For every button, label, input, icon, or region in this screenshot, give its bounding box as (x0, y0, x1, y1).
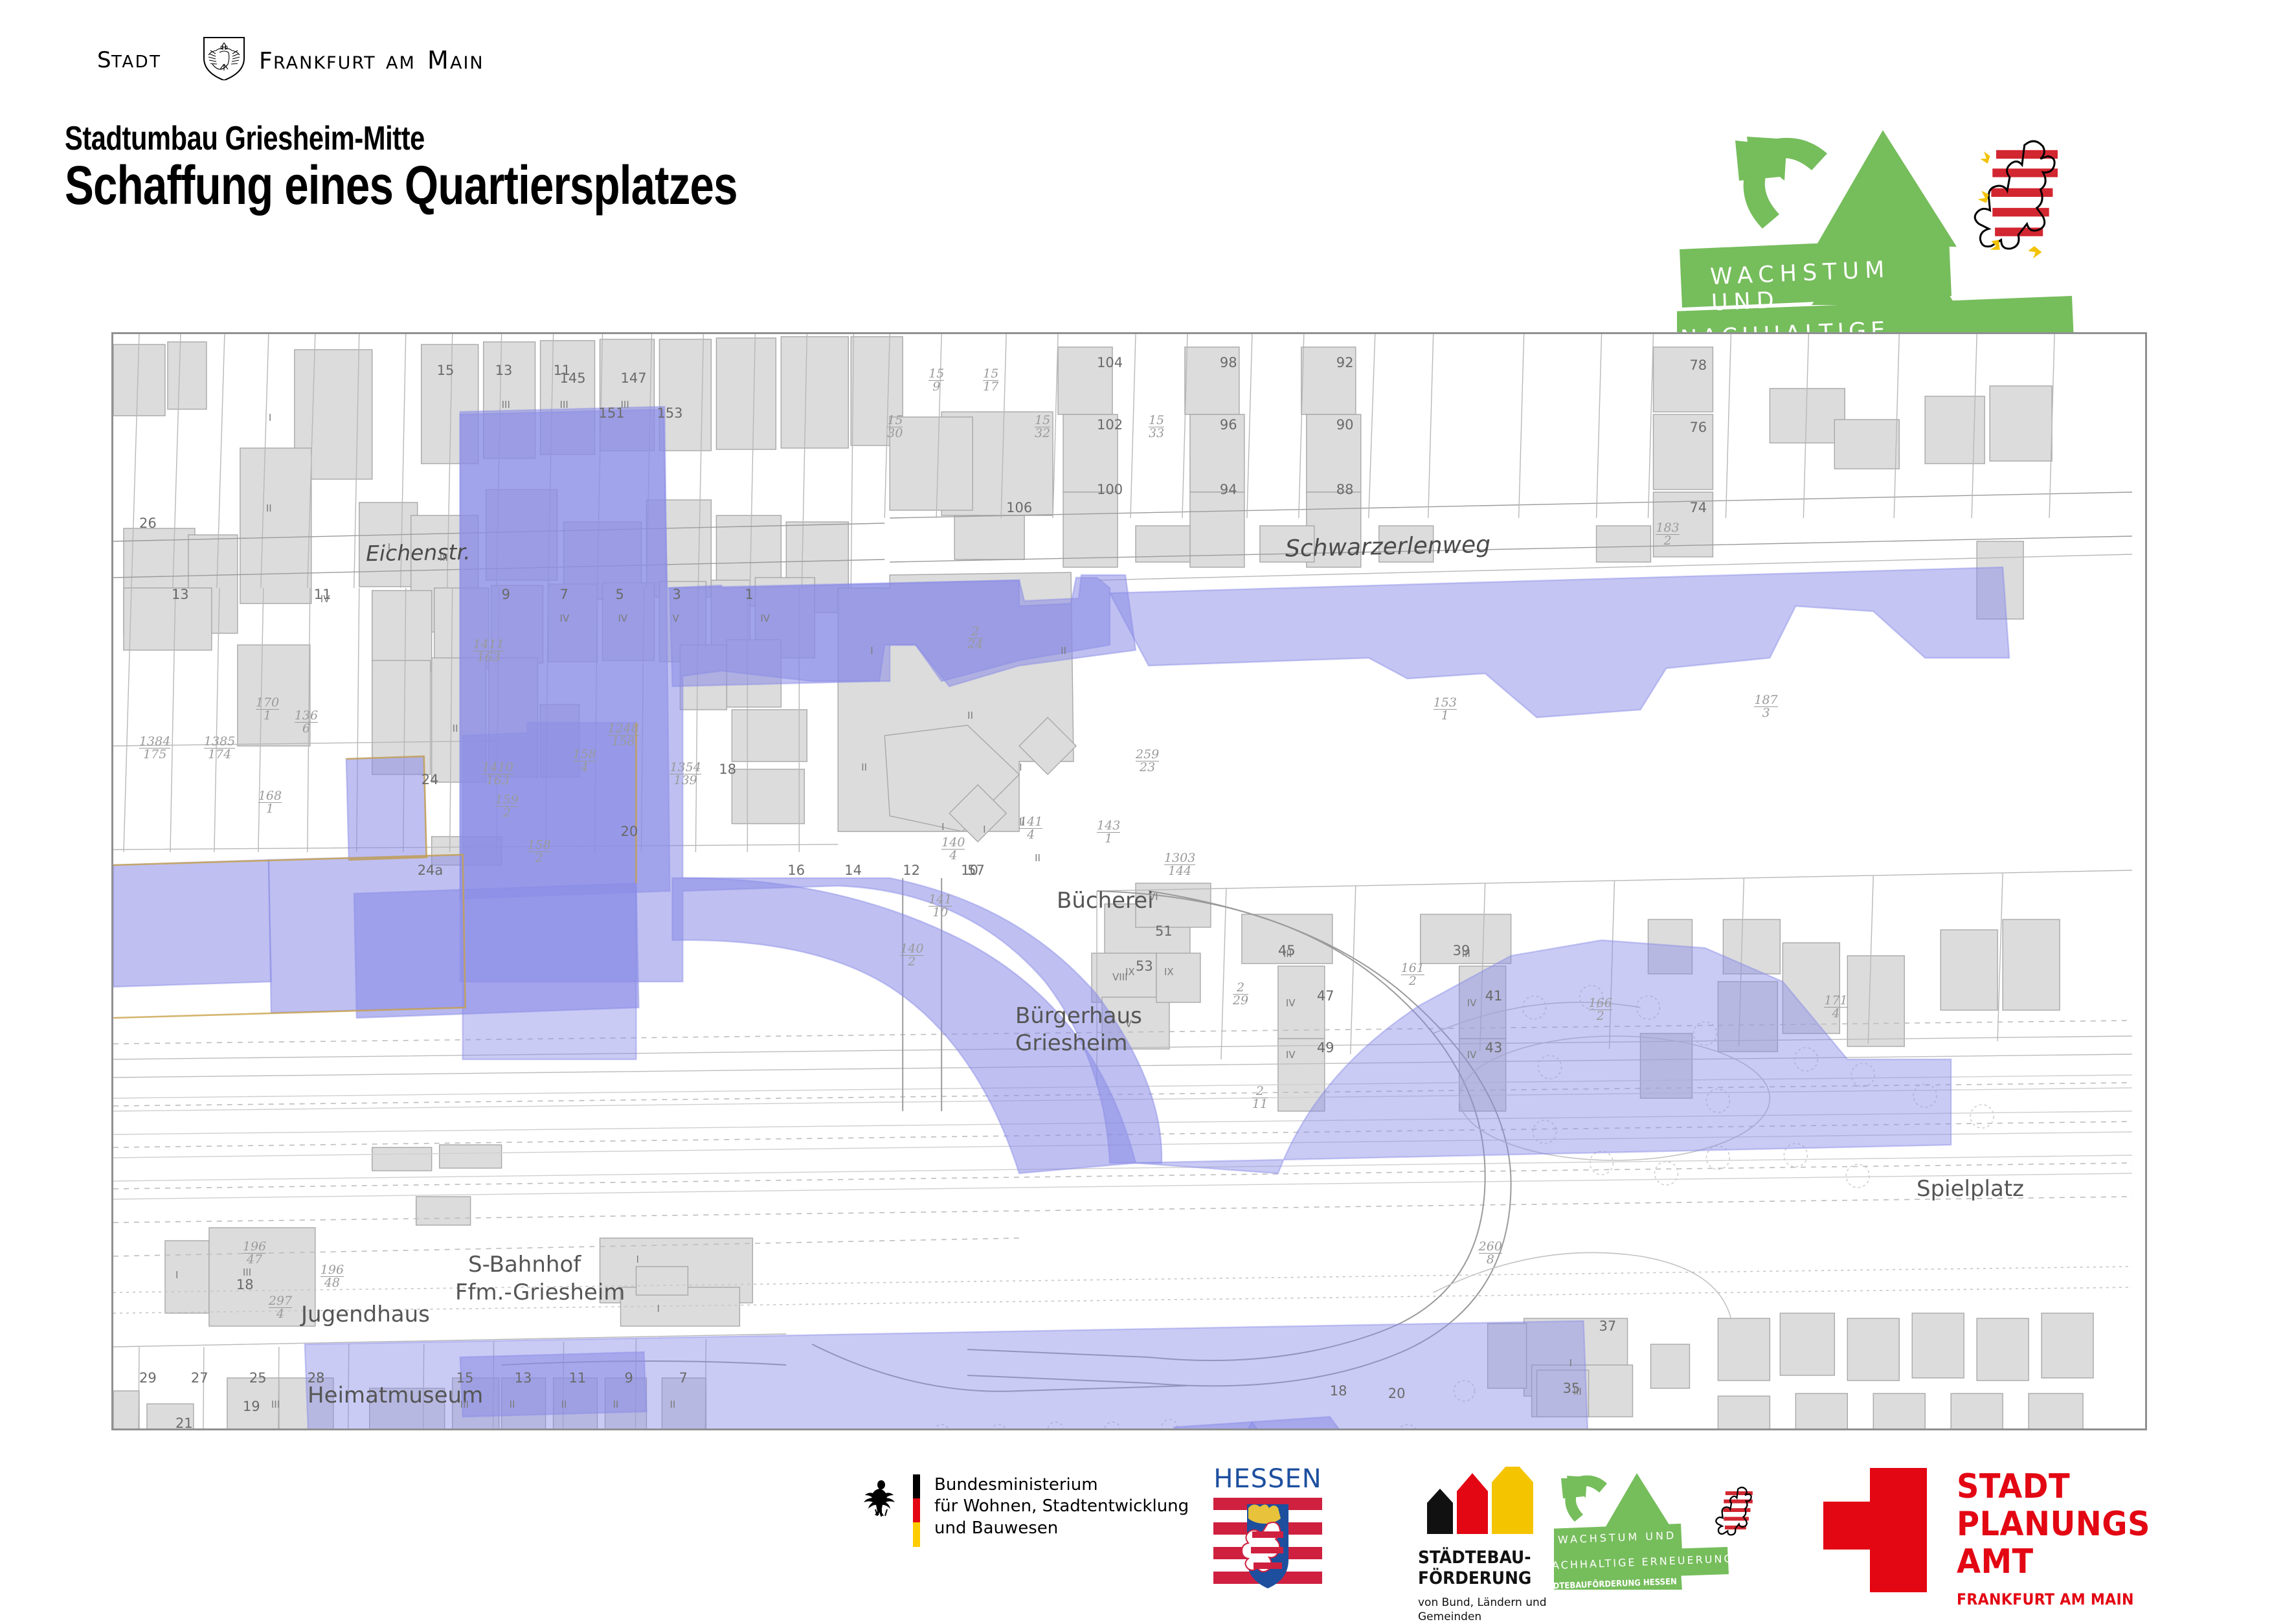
house-number: 7 (560, 587, 568, 602)
stadtplanungsamt-line-1: STADT (1957, 1468, 2150, 1506)
house-number: 18 (719, 761, 736, 777)
parcel-number: 1612 (1401, 962, 1424, 987)
storey-count-label: IX (1164, 966, 1174, 978)
bmwsb-logo: Bundesministerium für Wohnen, Stadtentwi… (861, 1474, 1189, 1547)
bundesadler-eagle-icon (861, 1474, 901, 1520)
parcel-number: 1714 (1824, 995, 1847, 1020)
staedtebau-sub-1: von Bund, Ländern und (1418, 1596, 1547, 1610)
house-number: 18 (236, 1277, 254, 1292)
house-number: 51 (1155, 923, 1173, 939)
house-number: 28 (308, 1370, 325, 1386)
storey-count-label: II (613, 1399, 619, 1410)
storey-count-label: III (621, 399, 629, 411)
parcel-number: 1662 (1589, 997, 1612, 1022)
house-number: 15 (456, 1370, 474, 1386)
house-number: 11 (554, 363, 571, 378)
parcel-number: 1533 (1149, 414, 1164, 440)
house-number: 153 (657, 405, 682, 421)
project-subtitle: Stadtumbau Griesheim-Mitte (65, 119, 425, 158)
parcel-number: 1354139 (669, 761, 701, 787)
house-number: 92 (1336, 355, 1354, 370)
storey-count-label: I (388, 541, 390, 553)
parcel-number: 1582 (528, 839, 551, 864)
storey-count-label: III (1462, 948, 1470, 960)
house-number: 1 (745, 587, 753, 602)
parcel-number: 224 (967, 626, 983, 651)
parcel-number: 14110 (928, 894, 952, 919)
storey-count-label: III (560, 399, 568, 411)
parcel-number: 1592 (495, 794, 519, 819)
parcel-number: 1410163 (482, 761, 513, 787)
storey-count-label: IV (1467, 997, 1477, 1009)
house-number: 106 (1006, 500, 1032, 515)
place-label-heimatmuseum: Heimatmuseum (308, 1382, 483, 1408)
staedtebau-line-1: STÄDTEBAU- (1418, 1548, 1536, 1568)
place-label-griesheim: Griesheim (1015, 1030, 1127, 1056)
house-number: 47 (1317, 988, 1334, 1004)
house-number: 88 (1336, 482, 1354, 497)
stadtplanungsamt-logo: STADT PLANUNGS AMT FRANKFURT AM MAIN (1823, 1468, 2167, 1608)
parcel-number: 19648 (321, 1264, 344, 1289)
three-gable-houses-icon (1418, 1467, 1545, 1534)
house-number: 76 (1689, 420, 1707, 435)
hessen-coat-of-arms-icon (1209, 1498, 1326, 1596)
house-number: 24a (418, 863, 444, 878)
storey-count-label: III (440, 552, 448, 563)
hessen-logo: HESSEN (1209, 1464, 1326, 1596)
house-number: 19 (243, 1399, 260, 1414)
parcel-number: 1404 (941, 837, 965, 862)
place-label-spielplatz: Spielplatz (1917, 1176, 2024, 1202)
svg-text:TADT: TADT (111, 52, 162, 72)
storey-count-label: IV (618, 613, 628, 624)
storey-count-label: I (636, 1254, 638, 1265)
staedtebau-sub-2: Gemeinden (1418, 1610, 1547, 1624)
parcel-number: 1701 (256, 697, 279, 722)
street-label-schwarzerlenweg: Schwarzerlenweg (1285, 532, 1491, 563)
cadastral-map[interactable]: Eichenstr. Schwarzerlenweg Am Gemeindega… (111, 332, 2147, 1430)
storey-count-label: IV (1286, 997, 1296, 1009)
footer-logo-bar: Bundesministerium für Wohnen, Stadtentwi… (0, 1460, 2272, 1596)
staedtebau-line-2: FÖRDERUNG (1418, 1568, 1536, 1589)
svg-text:AM: AM (386, 53, 416, 73)
house-number: 100 (1097, 482, 1123, 497)
red-f-mark-icon (1823, 1468, 1927, 1592)
storey-count-label: II (510, 1399, 515, 1410)
storey-count-label: II (967, 710, 973, 721)
house-number: 49 (1317, 1040, 1334, 1055)
house-number: 147 (621, 370, 647, 386)
house-number: 74 (1689, 500, 1707, 515)
bmwsb-line-3: und Bauwesen (934, 1518, 1189, 1539)
bmwsb-line-1: Bundesministerium (934, 1474, 1189, 1496)
house-number: 43 (1485, 1040, 1503, 1055)
parcel-number: 1873 (1754, 694, 1777, 719)
parcel-number: 1248158 (608, 723, 639, 748)
house-number: 41 (1485, 988, 1503, 1004)
parcel-number: 1385174 (204, 736, 235, 761)
staedtebaufoerderung-logo: STÄDTEBAU- FÖRDERUNG von Bund, Ländern u… (1418, 1467, 1547, 1624)
house-number: 16 (787, 863, 805, 878)
storey-count-label: II (1035, 852, 1040, 864)
storey-count-label: II (561, 1399, 567, 1410)
parcel-number: 1517 (983, 368, 998, 393)
parcel-number: 1681 (258, 790, 282, 815)
parcel-number: 19647 (243, 1241, 266, 1266)
place-label-buergerhaus: Bürgerhaus (1015, 1003, 1142, 1029)
house-number: 25 (249, 1370, 267, 1386)
house-number: 102 (1097, 417, 1123, 433)
street-label-eichenstr: Eichenstr. (366, 539, 471, 567)
bmwsb-line-2: für Wohnen, Stadtentwicklung (934, 1496, 1189, 1517)
house-number: 98 (1220, 355, 1237, 370)
storey-count-label: V (672, 613, 679, 624)
map-vector-layer (113, 334, 2145, 1428)
storey-count-label: III (271, 1399, 280, 1410)
house-number: 90 (1336, 417, 1354, 433)
svg-text:S: S (97, 47, 112, 73)
storey-count-label: I (269, 412, 271, 423)
storey-count-label: III (460, 1399, 469, 1410)
parcel-number: 2974 (269, 1295, 292, 1320)
storey-count-label: II (861, 761, 867, 773)
house-number: 53 (1136, 958, 1153, 974)
svg-text:F: F (259, 48, 273, 74)
storey-count-label: III (1573, 1386, 1582, 1397)
parcel-number: 1384175 (139, 736, 170, 761)
place-label-jugendhaus: Jugendhaus (301, 1302, 430, 1327)
house-number: 26 (139, 515, 157, 531)
parcel-number: 1366 (295, 710, 318, 735)
parcel-number: 1402 (900, 943, 923, 968)
house-number: 21 (175, 1415, 193, 1430)
house-number: 104 (1097, 355, 1123, 370)
parcel-number: 229 (1233, 982, 1248, 1007)
storey-count-label: III (1283, 948, 1292, 960)
stadtplanungsamt-line-3: AMT (1957, 1543, 2150, 1581)
house-number: 96 (1220, 417, 1237, 433)
storey-count-label: I (941, 821, 944, 833)
storey-count-label: II (453, 723, 458, 734)
house-number: 24 (422, 772, 439, 787)
storey-count-label: III (243, 1267, 251, 1278)
house-number: 9 (502, 587, 510, 602)
storey-count-label: IV (321, 593, 330, 605)
storey-count-label: VIII (1112, 971, 1128, 983)
house-number: 18 (1330, 1383, 1347, 1399)
storey-count-label: I (983, 824, 985, 835)
svg-text:RANKFURT: RANKFURT (273, 53, 376, 73)
house-number: 5 (616, 587, 624, 602)
parcel-number: 1584 (573, 749, 596, 774)
storey-count-label: VI (1149, 891, 1158, 903)
parcel-number: 159 (928, 368, 944, 393)
parcel-number: 1530 (887, 414, 903, 440)
house-number: 3 (672, 587, 680, 602)
house-number: 12 (903, 863, 920, 878)
parcel-number: 1411163 (473, 638, 504, 664)
recycle-arrow-icon (1735, 137, 1827, 229)
house-number: 78 (1689, 357, 1707, 373)
storey-count-label: IV (560, 613, 570, 624)
storey-count-label: II (1061, 645, 1066, 657)
parcel-number: 1532 (1035, 414, 1050, 440)
place-label-s-bahnhof: S-Bahnhof (468, 1252, 581, 1278)
hessen-wordmark: HESSEN (1209, 1464, 1326, 1494)
parcel-number: 1832 (1656, 522, 1679, 547)
storey-count-label: II (266, 502, 272, 514)
storey-count-label: I (1569, 1357, 1572, 1369)
storey-count-label: I (175, 1269, 178, 1281)
parcel-number: 1531 (1434, 697, 1457, 722)
stadtplanungsamt-line-2: PLANUNGS (1957, 1506, 2150, 1543)
hessen-lion-icon (1975, 141, 2058, 258)
house-number: 57 (967, 863, 985, 878)
storey-count-label: II (669, 1399, 675, 1410)
house-number: 14 (844, 863, 862, 878)
house-number: 11 (569, 1370, 587, 1386)
storey-count-label: IV (760, 613, 770, 624)
storey-count-label: I (657, 1303, 659, 1314)
house-number: 20 (621, 824, 638, 839)
storey-count-label: IV (1286, 1049, 1296, 1061)
svg-text:AIN: AIN (450, 53, 484, 73)
storey-count-label: I (870, 645, 873, 657)
house-number: 29 (139, 1370, 157, 1386)
storey-count-label: V (1125, 1018, 1132, 1030)
parcel-number: 1303144 (1164, 852, 1195, 877)
place-label-buecherei: Bücherei (1057, 888, 1154, 914)
city-logo: S TADT F RANKFURT AM M AIN (97, 34, 512, 79)
parcel-number: 1431 (1097, 820, 1120, 845)
parcel-number: 2608 (1479, 1241, 1502, 1266)
place-label-ffm-griesheim: Ffm.-Griesheim (455, 1280, 625, 1305)
storey-count-label: I (1019, 761, 1022, 773)
storey-count-label: III (502, 399, 510, 411)
house-number: 9 (624, 1370, 633, 1386)
house-number: 27 (191, 1370, 208, 1386)
wachstum-erneuerung-footer-logo: WACHSTUM UND NACHHALTIGE ERNEUERUNG STÄD… (1554, 1467, 1800, 1590)
parcel-number: 211 (1252, 1085, 1268, 1111)
badge-line-1: WACHSTUM UND (1709, 257, 1891, 317)
storey-count-label: II (1019, 816, 1025, 828)
storey-count-label: IV (1467, 1049, 1477, 1061)
page-title: Schaffung eines Quartiersplatzes (65, 154, 737, 217)
house-number: 37 (1599, 1318, 1617, 1334)
house-number: 13 (515, 1370, 532, 1386)
house-number: 20 (1388, 1386, 1406, 1401)
house-number: 7 (679, 1370, 687, 1386)
svg-text:M: M (427, 46, 449, 74)
house-number: 13 (172, 587, 189, 602)
house-number: 94 (1220, 482, 1237, 497)
house-number: 13 (495, 363, 513, 378)
parcel-number: 25923 (1136, 749, 1159, 774)
house-number: 15 (437, 363, 455, 378)
